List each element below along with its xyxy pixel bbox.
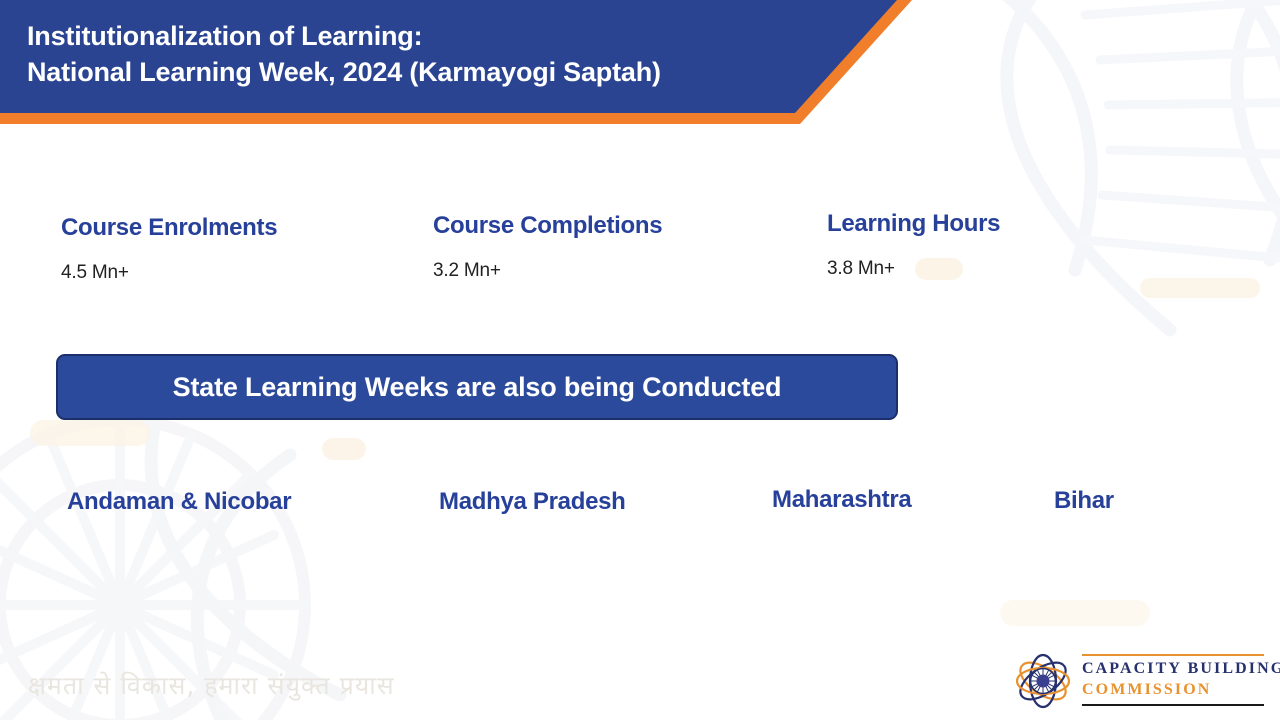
cbc-emblem-icon: [1012, 650, 1074, 712]
stat-value: 3.8 Mn+: [827, 258, 1000, 280]
state-learning-weeks-callout: State Learning Weeks are also being Cond…: [56, 354, 898, 420]
stat-course-enrolments: Course Enrolments 4.5 Mn+: [61, 214, 277, 284]
logo-rule-top: [1082, 654, 1264, 656]
state-andaman-and-nicobar: Andaman & Nicobar: [67, 488, 291, 516]
logo-rule-bottom: [1082, 704, 1264, 706]
page-title: Institutionalization of Learning: Nation…: [27, 18, 661, 90]
state-maharashtra: Maharashtra: [772, 486, 911, 514]
stat-value: 3.2 Mn+: [433, 260, 662, 282]
background-blob: [30, 420, 150, 446]
callout-text: State Learning Weeks are also being Cond…: [173, 372, 782, 403]
slide-canvas: Institutionalization of Learning: Nation…: [0, 0, 1280, 720]
state-bihar: Bihar: [1054, 487, 1114, 515]
hindi-tagline: क्षमता से विकास, हमारा संयुक्त प्रयास: [28, 668, 395, 702]
capacity-building-commission-logo: CAPACITY BUILDING COMMISSION: [1012, 650, 1264, 712]
page-title-line-1: Institutionalization of Learning:: [27, 18, 661, 54]
logo-wordmark: CAPACITY BUILDING COMMISSION: [1082, 652, 1264, 710]
stat-value: 4.5 Mn+: [61, 262, 277, 284]
background-blob: [1140, 278, 1260, 298]
stat-title: Course Enrolments: [61, 214, 277, 242]
stat-learning-hours: Learning Hours 3.8 Mn+: [827, 210, 1000, 280]
stat-title: Learning Hours: [827, 210, 1000, 238]
state-madhya-pradesh: Madhya Pradesh: [439, 488, 626, 516]
header-banner: Institutionalization of Learning: Nation…: [0, 0, 960, 128]
stat-course-completions: Course Completions 3.2 Mn+: [433, 212, 662, 282]
background-blob: [322, 438, 366, 460]
logo-text-commission: COMMISSION: [1082, 681, 1211, 699]
stat-title: Course Completions: [433, 212, 662, 240]
background-blob: [1000, 600, 1150, 626]
page-title-line-2: National Learning Week, 2024 (Karmayogi …: [27, 54, 661, 90]
logo-text-capacity-building: CAPACITY BUILDING: [1082, 660, 1280, 678]
